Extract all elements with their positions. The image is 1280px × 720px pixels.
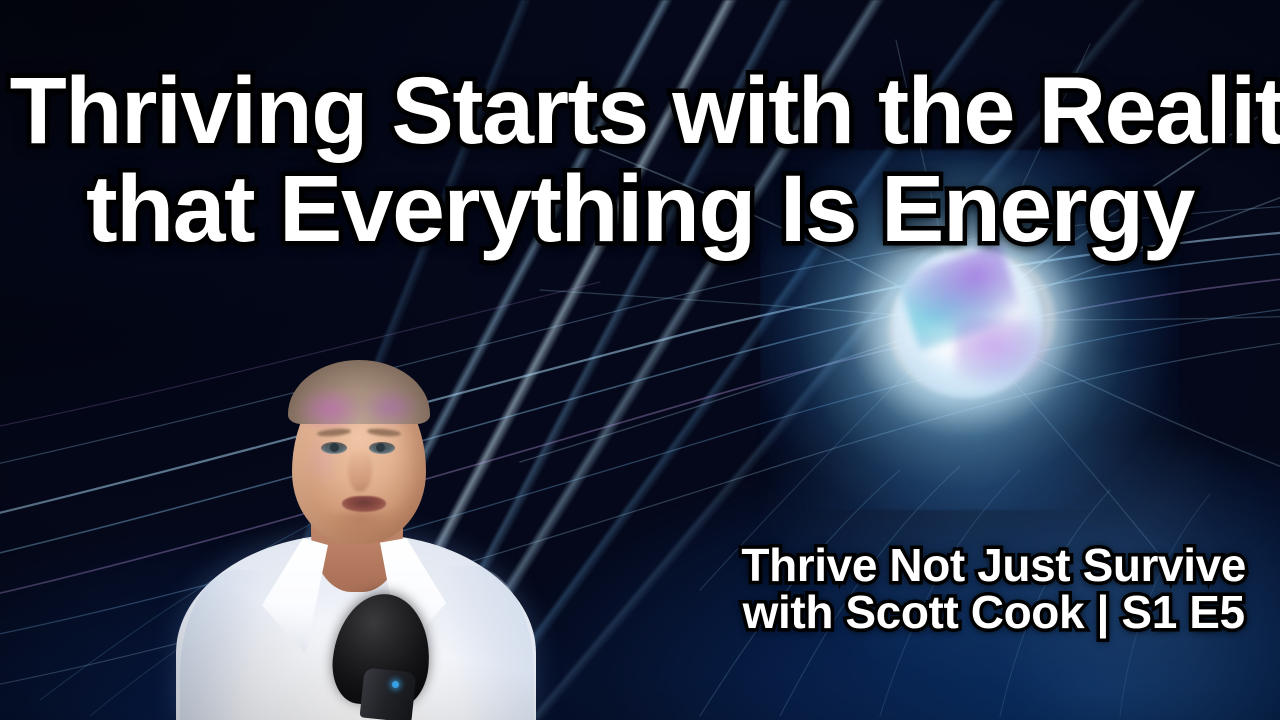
- page-title: Thriving Starts with the Reality that Ev…: [0, 62, 1280, 258]
- show-credit: Thrive Not Just Survive with Scott Cook …: [741, 542, 1246, 636]
- video-thumbnail: Thriving Starts with the Reality that Ev…: [0, 0, 1280, 720]
- subtitle-line-2: with Scott Cook | S1 E5: [741, 589, 1246, 636]
- subtitle-line-1: Thrive Not Just Survive: [741, 542, 1246, 589]
- title-line-2: that Everything Is Energy: [0, 160, 1280, 258]
- title-line-1: Thriving Starts with the Reality: [10, 62, 1271, 160]
